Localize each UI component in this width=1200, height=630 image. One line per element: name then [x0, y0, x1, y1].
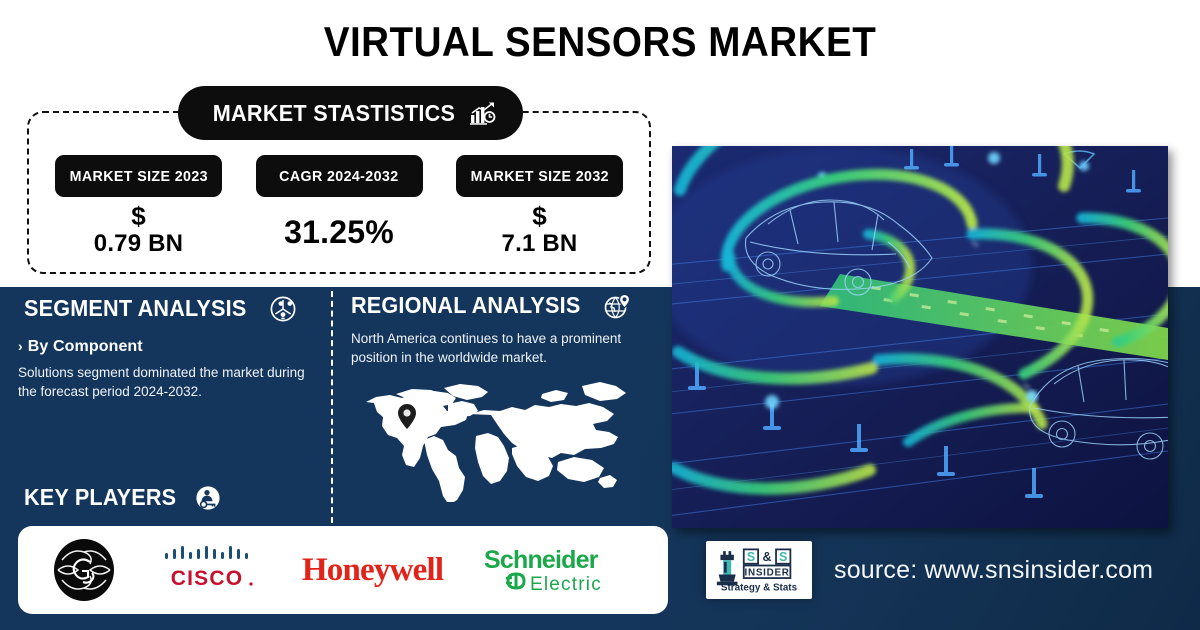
honeywell-logo: Honeywell	[302, 552, 443, 589]
currency-symbol: $	[55, 203, 222, 229]
chevron-right-icon: ›	[18, 338, 23, 354]
world-map-icon	[352, 378, 634, 502]
stat-amount: 31.25%	[284, 212, 394, 252]
stat-value-cagr: 31.25%	[256, 203, 423, 261]
stat-value-row: $ 0.79 BN 31.25% $ 7.1 BN	[27, 203, 651, 261]
logo-cisco: CISCO	[155, 545, 263, 595]
currency-symbol: $	[456, 203, 623, 229]
page-title: VIRTUAL SENSORS MARKET	[48, 18, 1152, 66]
key-players-label: KEY PLAYERS	[24, 484, 176, 511]
globe-pin-icon	[604, 293, 630, 319]
svg-text:S: S	[779, 550, 787, 564]
stat-pill-row: MARKET SIZE 2023 CAGR 2024-2032 MARKET S…	[27, 155, 651, 197]
svg-text:CISCO: CISCO	[170, 567, 243, 590]
market-statistics-label: MARKET STASTISTICS	[212, 100, 455, 127]
stat-pill-market-size-2032: MARKET SIZE 2032	[456, 155, 623, 197]
regional-analysis-heading: REGIONAL ANALYSIS	[351, 292, 630, 319]
source-row: S & S INSIDER Strategy & Stats source: w…	[706, 541, 1153, 599]
segment-analysis-heading: SEGMENT ANALYSIS	[24, 295, 296, 322]
source-text: source: www.snsinsider.com	[834, 556, 1153, 585]
segment-body-text: Solutions segment dominated the market d…	[18, 363, 308, 401]
schneider-electric-logo: Schneider Electric	[482, 544, 634, 596]
world-map	[352, 378, 634, 502]
logo-ge	[52, 538, 116, 602]
segment-analysis-label: SEGMENT ANALYSIS	[24, 295, 246, 322]
panel-divider	[331, 291, 333, 523]
cisco-logo: CISCO	[155, 545, 263, 595]
stat-pill-market-size-2023: MARKET SIZE 2023	[55, 155, 222, 197]
hero-image	[672, 146, 1168, 528]
infographic-page: VIRTUAL SENSORS MARKET MARKET STASTISTIC…	[0, 0, 1200, 630]
key-players-card: CISCO Honeywell Schneider Electric	[18, 526, 668, 614]
stat-value-market-size-2023: $ 0.79 BN	[55, 203, 222, 261]
logo-honeywell: Honeywell	[302, 552, 443, 589]
bar-chart-growth-icon	[470, 101, 496, 125]
regional-body-text: North America continues to have a promin…	[351, 329, 639, 367]
stat-pill-cagr: CAGR 2024-2032	[256, 155, 423, 197]
ge-monogram-logo	[52, 538, 116, 602]
logo-schneider-electric: Schneider Electric	[482, 544, 634, 596]
regional-analysis-label: REGIONAL ANALYSIS	[351, 292, 580, 319]
svg-text:Strategy & Stats: Strategy & Stats	[721, 583, 798, 594]
stat-pill-label: MARKET SIZE 2023	[69, 168, 207, 185]
stat-value-market-size-2032: $ 7.1 BN	[456, 203, 623, 261]
svg-text:INSIDER: INSIDER	[745, 567, 790, 578]
stat-amount: 0.79 BN	[55, 229, 222, 259]
svg-text:Electric: Electric	[530, 574, 602, 595]
stat-pill-label: CAGR 2024-2032	[279, 168, 398, 185]
segment-subheading-label: By Component	[28, 338, 143, 356]
sns-insider-logo: S & S INSIDER Strategy & Stats	[706, 541, 812, 599]
person-key-icon	[195, 485, 221, 511]
segment-pie-icon	[270, 296, 296, 322]
autonomous-vehicles-sensor-waves-illustration	[672, 146, 1168, 528]
segment-subheading: › By Component	[18, 338, 143, 356]
stat-pill-label: MARKET SIZE 2032	[470, 168, 608, 185]
key-players-heading: KEY PLAYERS	[24, 484, 221, 511]
market-statistics-badge: MARKET STASTISTICS	[178, 86, 523, 140]
svg-text:S: S	[747, 550, 755, 564]
svg-text:&: &	[763, 550, 772, 564]
sns-insider-logo-icon: S & S INSIDER Strategy & Stats	[709, 544, 809, 596]
stat-amount: 7.1 BN	[456, 229, 623, 259]
svg-text:Schneider: Schneider	[484, 546, 599, 574]
